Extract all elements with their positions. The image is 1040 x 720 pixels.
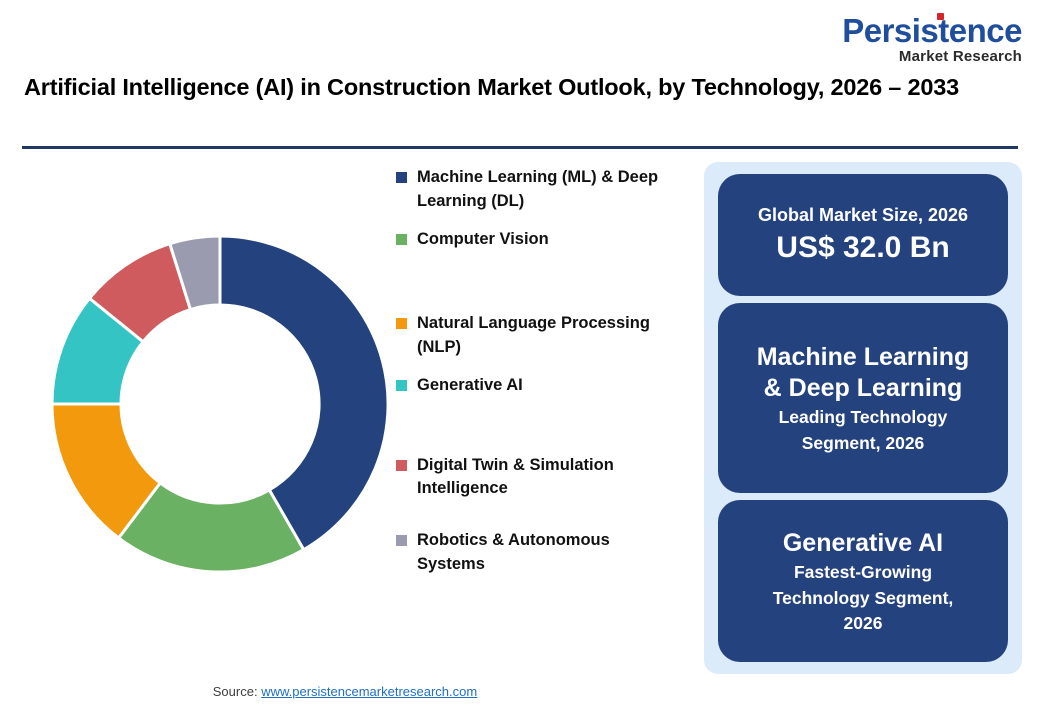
stat-card-leading-segment: Machine Learning & Deep Learning Leading… [718, 303, 1008, 493]
legend-item-generative-ai: Generative AI [396, 374, 696, 398]
stat-card-fastest-growing: Generative AI Fastest-Growing Technology… [718, 500, 1008, 662]
legend-swatch-icon [396, 234, 407, 245]
leading-segment-name-line2: & Deep Learning [764, 373, 963, 404]
legend-label: Robotics & Autonomous Systems [417, 529, 679, 577]
fastest-growing-caption-line3: 2026 [844, 612, 883, 634]
legend-label: Machine Learning (ML) & Deep Learning (D… [417, 166, 679, 214]
market-size-label: Global Market Size, 2026 [758, 204, 968, 227]
leading-segment-name-line1: Machine Learning [757, 342, 970, 373]
legend-item-nlp: Natural Language Processing (NLP) [396, 312, 696, 360]
source-link[interactable]: www.persistencemarketresearch.com [261, 684, 477, 699]
legend-label: Generative AI [417, 374, 523, 398]
legend-swatch-icon [396, 318, 407, 329]
source-line: Source: www.persistencemarketresearch.co… [0, 684, 690, 699]
stat-card-market-size: Global Market Size, 2026 US$ 32.0 Bn [718, 174, 1008, 296]
legend-label: Digital Twin & Simulation Intelligence [417, 454, 679, 502]
fastest-growing-caption-line1: Fastest-Growing [794, 561, 932, 583]
donut-chart-svg [48, 232, 392, 576]
page-title: Artificial Intelligence (AI) in Construc… [24, 72, 1004, 103]
fastest-growing-caption-line2: Technology Segment, [773, 587, 954, 609]
legend-label: Computer Vision [417, 228, 549, 252]
chart-legend: Machine Learning (ML) & Deep Learning (D… [396, 166, 696, 591]
stats-panel: Global Market Size, 2026 US$ 32.0 Bn Mac… [704, 162, 1022, 674]
logo-subtitle: Market Research [810, 49, 1022, 64]
legend-item-computer-vision: Computer Vision [396, 228, 696, 252]
market-size-value: US$ 32.0 Bn [776, 229, 949, 267]
legend-swatch-icon [396, 460, 407, 471]
legend-item-digital-twin: Digital Twin & Simulation Intelligence [396, 454, 696, 502]
logo-main-text: Persistence [842, 12, 1022, 49]
legend-swatch-icon [396, 380, 407, 391]
legend-swatch-icon [396, 535, 407, 546]
legend-swatch-icon [396, 172, 407, 183]
legend-label: Natural Language Processing (NLP) [417, 312, 679, 360]
logo-accent-dot [937, 13, 944, 20]
legend-item-machine-learning: Machine Learning (ML) & Deep Learning (D… [396, 166, 696, 214]
title-divider [22, 146, 1018, 149]
donut-chart [24, 160, 414, 660]
leading-segment-caption-line1: Leading Technology [779, 406, 948, 428]
logo-wordmark: Persistence [842, 14, 1022, 47]
leading-segment-caption-line2: Segment, 2026 [802, 432, 925, 454]
legend-item-robotics: Robotics & Autonomous Systems [396, 529, 696, 577]
fastest-growing-name: Generative AI [783, 528, 943, 559]
brand-logo: Persistence Market Research [810, 14, 1022, 64]
infographic-page: Persistence Market Research Artificial I… [0, 0, 1040, 720]
source-prefix: Source: [213, 684, 261, 699]
